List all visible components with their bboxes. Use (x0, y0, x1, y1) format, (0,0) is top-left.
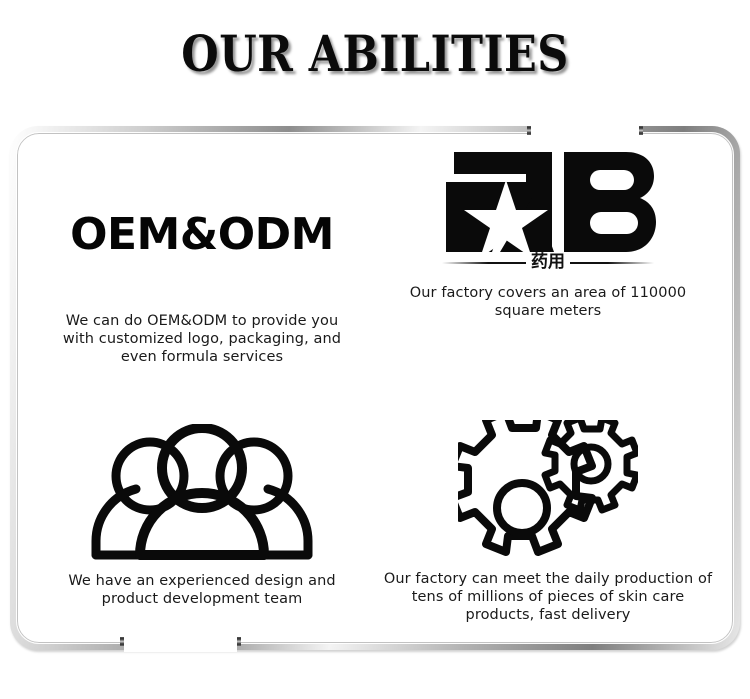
production-capacity-caption: Our factory can meet the daily productio… (376, 570, 720, 624)
factory-area-caption: Our factory covers an area of 110000 squ… (376, 284, 720, 320)
ability-card-oem-odm: OEM&ODM We can do OEM&ODM to provide you… (32, 164, 372, 414)
ab-subtitle-rule-right (570, 262, 654, 264)
ab-logo-subtitle: 药用 (526, 253, 570, 272)
gears-icon-wrap (376, 418, 720, 560)
design-team-caption: We have an experienced design and produc… (32, 572, 372, 608)
people-group-icon (86, 424, 318, 560)
oem-odm-caption: We can do OEM&ODM to provide you with cu… (32, 312, 372, 366)
ab-logo: 药用 (440, 152, 656, 272)
ability-card-factory-area: 药用 Our factory covers an area of 110000 … (376, 152, 720, 414)
ab-logo-wrap: 药用 (376, 152, 720, 270)
oem-odm-headline: OEM&ODM (32, 210, 372, 260)
ab-logo-mark-icon (440, 152, 656, 252)
abilities-grid: OEM&ODM We can do OEM&ODM to provide you… (10, 126, 740, 650)
ability-card-design-team: We have an experienced design and produc… (32, 418, 372, 628)
people-icon-wrap (32, 418, 372, 560)
ability-card-production-capacity: Our factory can meet the daily productio… (376, 418, 720, 628)
ab-logo-subtitle-row: 药用 (442, 253, 654, 272)
gears-icon (458, 420, 638, 560)
ab-subtitle-rule-left (442, 262, 526, 264)
page-title: OUR ABILITIES (53, 26, 698, 82)
